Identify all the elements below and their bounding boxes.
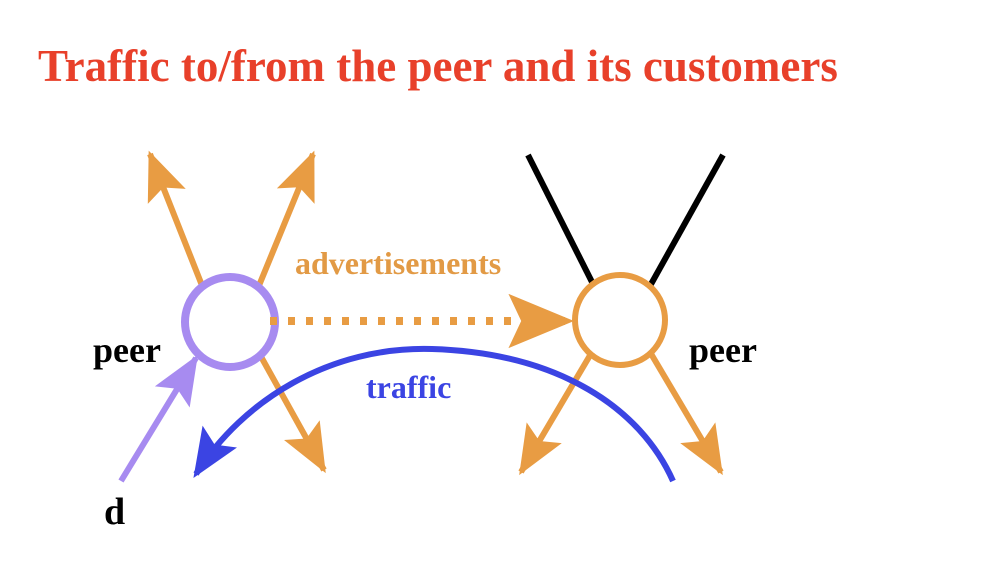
page-title: Traffic to/from the peer and its custome… xyxy=(38,44,838,89)
right-peer-down-left-arrow xyxy=(521,352,592,472)
customer-d-to-peer-arrow xyxy=(121,358,196,481)
label-peer-left: peer xyxy=(93,332,161,368)
left-peer-upstream-links xyxy=(150,154,313,288)
right-peer-up-right-line xyxy=(650,155,723,286)
diagram-canvas: Traffic to/from the peer and its custome… xyxy=(0,0,994,562)
label-peer-right: peer xyxy=(689,332,757,368)
customer-d-link xyxy=(121,358,196,481)
right-peer-upstream-links xyxy=(528,155,723,286)
node-left-peer[interactable] xyxy=(185,277,275,367)
label-traffic: traffic xyxy=(366,371,451,403)
right-peer-up-left-line xyxy=(528,155,594,286)
label-customer-d: d xyxy=(104,493,125,531)
left-peer-up-left-arrow xyxy=(150,154,203,288)
label-advertisements: advertisements xyxy=(295,247,501,279)
node-right-peer[interactable] xyxy=(575,275,665,365)
